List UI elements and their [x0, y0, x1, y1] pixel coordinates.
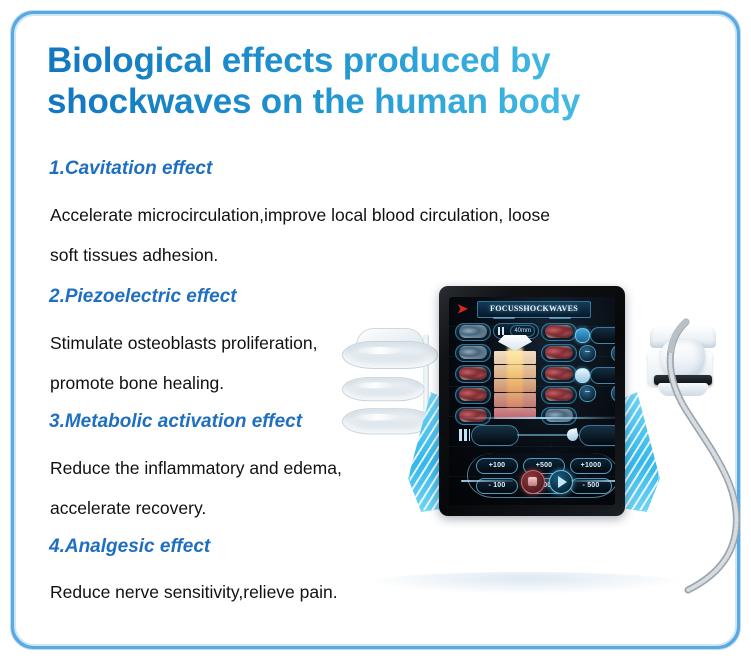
device-floor-reflection — [365, 572, 685, 594]
preset-knee-icon[interactable] — [455, 386, 491, 404]
handpiece-foot — [658, 383, 708, 396]
transport-controls[interactable] — [455, 469, 615, 493]
energy-increase-button[interactable]: + — [611, 385, 615, 402]
preset-ankle-art — [545, 409, 573, 422]
effect-body-1: Accelerate microcirculation,improve loca… — [50, 195, 550, 275]
pause-icon[interactable] — [459, 429, 470, 441]
effect-body-4: Reduce nerve sensitivity,relieve pain. — [50, 572, 338, 612]
screen-header-tick-left — [493, 317, 515, 319]
tissue-penetration-diagram — [493, 335, 537, 419]
effect-body-4-line-1: Reduce nerve sensitivity,relieve pain. — [50, 572, 338, 612]
preset-foot-icon[interactable] — [455, 407, 491, 425]
applicator-head-3-glint — [355, 414, 400, 421]
handpiece-bell — [661, 340, 705, 380]
preset-leg-art — [545, 388, 573, 401]
effect-body-1-line-1: Accelerate microcirculation,improve loca… — [50, 195, 550, 235]
preset-leg-icon[interactable] — [541, 386, 577, 404]
energy-decrease-button[interactable]: − — [579, 385, 596, 402]
stop-button[interactable] — [521, 470, 545, 494]
effect-heading-4: 4.Analgesic effect — [49, 536, 210, 558]
preset-shoulder-art — [459, 325, 487, 338]
applicator-head-3 — [342, 396, 432, 434]
applicator-head-1-glint — [356, 347, 404, 354]
shockwave-beam — [507, 348, 523, 410]
effect-body-1-line-2: soft tissues adhesion. — [50, 235, 550, 275]
device-touchscreen[interactable]: ➤ FOCUSSHOCKWAVES 40mm — [449, 297, 615, 505]
screen-divider — [459, 417, 615, 419]
preset-torso-art — [545, 346, 573, 359]
energy-readout[interactable]: bar — [590, 367, 615, 384]
shockwave-emitter-icon — [498, 335, 532, 351]
preset-foot-art — [459, 409, 487, 422]
screen-header-tick-right — [549, 317, 571, 319]
effect-heading-3: 3.Metabolic activation effect — [49, 411, 302, 433]
applicator-head-1 — [342, 328, 438, 368]
play-icon — [558, 476, 567, 488]
screen-header: ➤ FOCUSSHOCKWAVES — [449, 301, 615, 317]
intensity-drop-icon[interactable] — [566, 428, 579, 442]
energy-steppers[interactable]: − + — [575, 385, 615, 401]
frequency-readout-row: Hz — [575, 327, 615, 342]
energy-control-group[interactable]: bar − + — [575, 367, 615, 401]
body-part-preset-column-left[interactable] — [455, 323, 489, 428]
preset-arm-art — [459, 346, 487, 359]
play-button[interactable] — [549, 470, 573, 494]
page-title-line-1: Biological effects produced by — [47, 40, 677, 81]
preset-hip-art — [545, 367, 573, 380]
preset-back-art — [545, 325, 573, 338]
frequency-icon — [575, 328, 590, 343]
transport-line-right — [571, 480, 615, 482]
preset-ankle-icon[interactable] — [541, 407, 577, 425]
frequency-steppers[interactable]: − + — [575, 345, 615, 361]
effect-heading-1: 1.Cavitation effect — [49, 158, 212, 180]
transport-line-left — [461, 480, 513, 482]
effect-heading-2: 2.Piezoelectric effect — [49, 286, 237, 308]
page-title: Biological effects produced by shockwave… — [47, 40, 677, 122]
device-monitor: ➤ FOCUSSHOCKWAVES 40mm — [439, 286, 625, 516]
screen-brand-title: FOCUSSHOCKWAVES — [477, 301, 591, 318]
preset-torso-icon[interactable] — [541, 344, 577, 362]
preset-shoulder-icon[interactable] — [455, 323, 491, 341]
effect-body-2: Stimulate osteoblasts proliferation, pro… — [50, 323, 318, 403]
effect-body-3-line-2: accelerate recovery. — [50, 488, 342, 528]
pulse-counter-row[interactable] — [455, 425, 615, 445]
page-title-line-2: shockwaves on the human body — [47, 81, 677, 122]
stop-icon — [528, 477, 537, 486]
applicator-head-3-body — [342, 408, 432, 434]
preset-elbow-icon[interactable] — [455, 365, 491, 383]
red-arrow-logo-icon: ➤ — [457, 303, 472, 314]
probe-depth-bars-icon — [498, 327, 506, 335]
preset-knee-art — [459, 388, 487, 401]
effect-body-2-line-2: promote bone healing. — [50, 363, 318, 403]
body-part-preset-column-right[interactable] — [541, 323, 575, 428]
applicator-head-2-glint — [354, 382, 395, 388]
treatment-handpiece — [646, 326, 720, 396]
applicator-head-1-body — [342, 341, 438, 369]
pulse-total-readout[interactable] — [471, 425, 519, 446]
energy-icon — [575, 368, 590, 383]
preset-hip-icon[interactable] — [541, 365, 577, 383]
shockwave-device-image: ➤ FOCUSSHOCKWAVES 40mm — [330, 300, 730, 630]
effect-body-3-line-1: Reduce the inflammatory and edema, — [50, 448, 342, 488]
frequency-readout[interactable]: Hz — [590, 327, 615, 344]
frequency-control-group[interactable]: Hz − + — [575, 327, 615, 361]
preset-back-icon[interactable] — [541, 323, 577, 341]
energy-readout-row: bar — [575, 367, 615, 382]
effect-body-3: Reduce the inflammatory and edema, accel… — [50, 448, 342, 528]
effect-body-2-line-1: Stimulate osteoblasts proliferation, — [50, 323, 318, 363]
preset-arm-icon[interactable] — [455, 344, 491, 362]
pulse-remaining-readout[interactable] — [579, 425, 615, 446]
frequency-increase-button[interactable]: + — [611, 345, 615, 362]
frequency-decrease-button[interactable]: − — [579, 345, 596, 362]
poster-root: Biological effects produced by shockwave… — [0, 0, 751, 660]
preset-elbow-art — [459, 367, 487, 380]
